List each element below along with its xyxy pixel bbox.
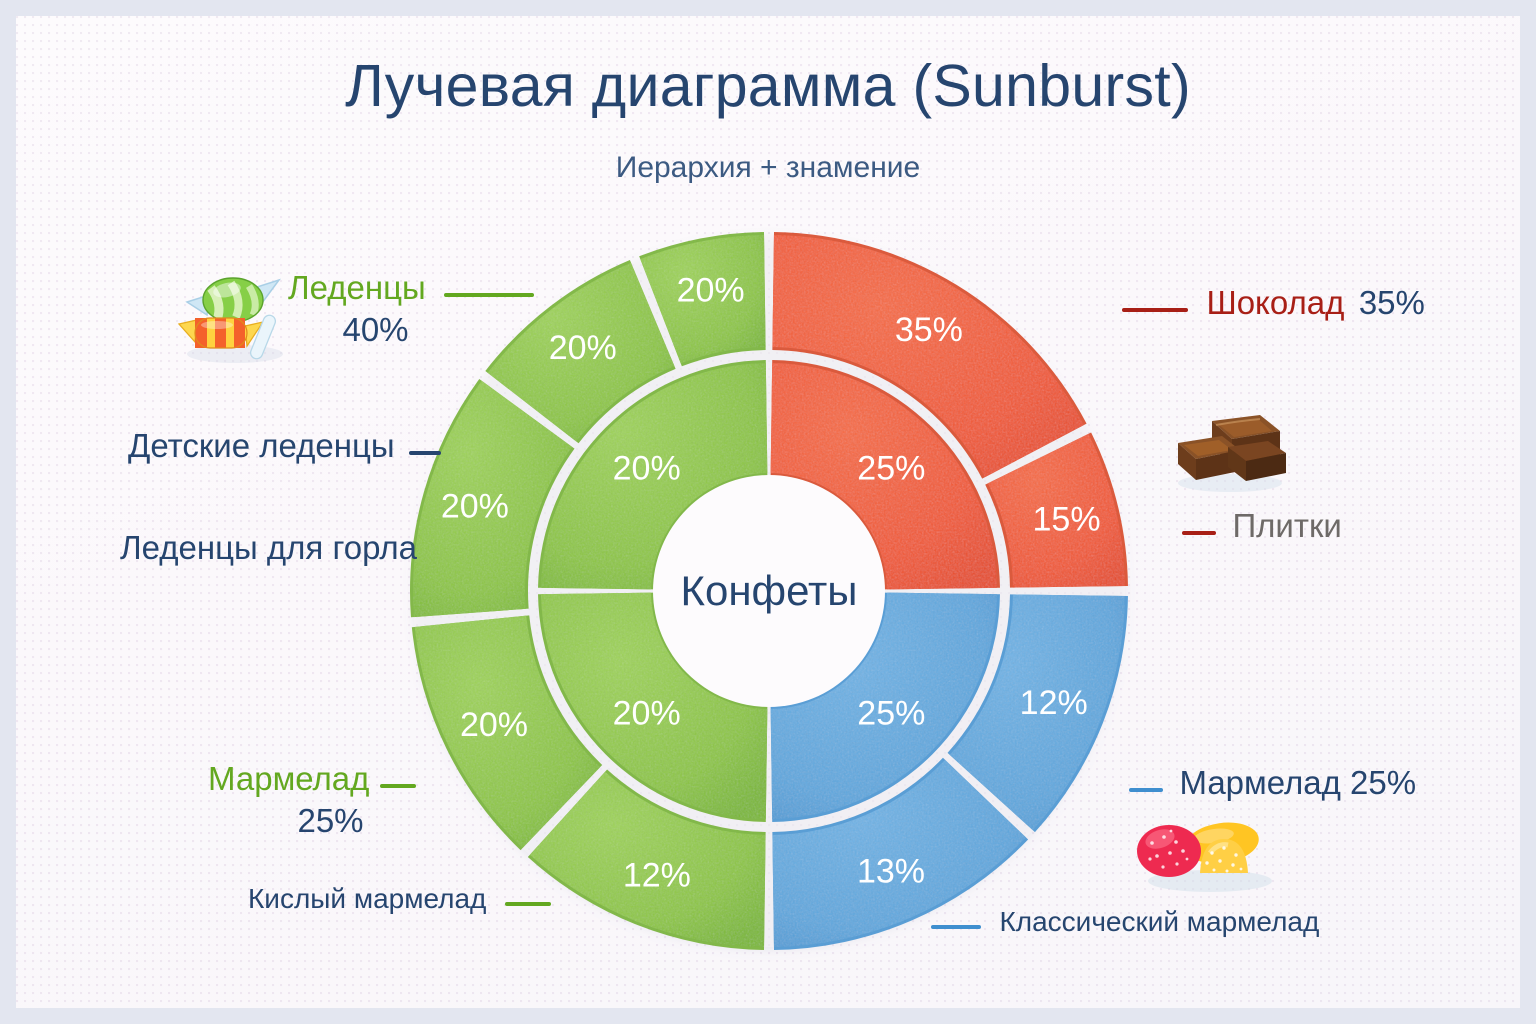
callout-marmalade-left-name: Мармелад [208,760,369,797]
callout-lollipop-name: Леденцы [288,269,426,306]
candy-icon [171,262,296,367]
connector-line-lollipop [444,293,534,297]
connector-line-marmalade-right [1129,788,1163,792]
callout-chocolate-name: Шоколад [1206,284,1344,321]
chocolate-bar-icon [1164,401,1294,496]
connector-line-kids [409,451,441,455]
callout-sour-marmalade-name: Кислый мармелад [248,883,486,914]
callout-sour-marmalade[interactable]: Кислый мармелад [248,883,551,915]
segment-value-label: 20% [441,488,509,526]
connector-line-bars [1182,531,1216,535]
segment-value-label: 20% [677,272,745,310]
gummy-candy-icon [1126,801,1291,896]
callout-classic-marmalade[interactable]: Классический мармелад [931,906,1319,938]
segment-value-label: 25% [857,450,925,488]
segment-value-label: 12% [623,857,691,895]
callout-kids-lollipop[interactable]: Детские леденцы [128,427,441,465]
callout-chocolate[interactable]: Шоколад 35% [1122,284,1425,322]
connector-line-marmalade-left [380,784,416,788]
connector-line-classic [931,925,981,929]
callout-chocolate-pct: 35% [1359,284,1425,321]
callout-throat-lollipop-name: Леденцы для горла [120,529,417,566]
page-subtitle: Иерархия + знамение [16,151,1520,185]
segment-value-label: 20% [549,329,617,367]
segment-value-label: 13% [857,853,925,891]
callout-lollipop[interactable]: Леденцы 40% [288,269,534,349]
center-disc [653,475,885,707]
connector-line-sour [505,902,551,906]
segment-value-label: 15% [1033,501,1101,539]
callout-kids-lollipop-name: Детские леденцы [128,427,395,464]
callout-bars-name: Плитки [1232,507,1341,544]
callout-marmalade-left-pct: 25% [208,802,453,840]
callout-bars[interactable]: Плитки [1182,507,1342,545]
callout-marmalade-left[interactable]: Мармелад 25% [208,760,453,840]
callout-classic-marmalade-name: Классический мармелад [999,906,1319,937]
callout-throat-lollipop[interactable]: Леденцы для горла [120,529,417,567]
connector-line-chocolate [1122,308,1188,312]
segment-value-label: 20% [613,450,681,488]
segment-value-label: 12% [1020,684,1088,722]
segment-value-label: 35% [895,311,963,349]
segment-value-label: 20% [613,694,681,732]
infographic-canvas: Лучевая диаграмма (Sunburst) Иерархия + … [16,16,1520,1008]
segment-value-label: 20% [460,706,528,744]
callout-lollipop-pct: 40% [288,311,463,349]
callout-marmalade-right-name: Мармелад 25% [1179,764,1416,801]
callout-marmalade-right[interactable]: Мармелад 25% [1129,764,1416,802]
segment-value-label: 25% [857,694,925,732]
page-title: Лучевая диаграмма (Sunburst) [16,52,1520,120]
